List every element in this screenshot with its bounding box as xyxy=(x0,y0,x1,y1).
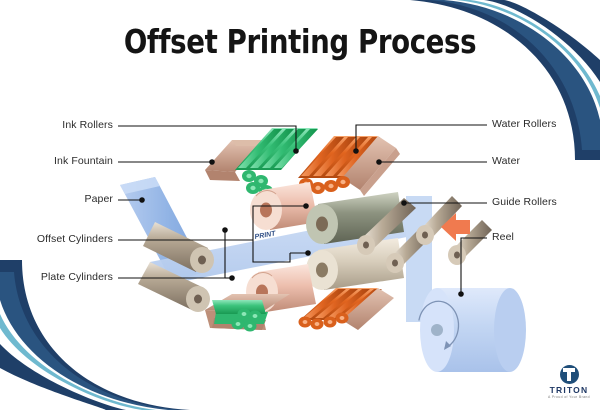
brand-tagline: A Proud of Your Brand xyxy=(546,395,592,399)
label-offset-cylinders: Offset Cylinders xyxy=(8,233,113,245)
label-ink-rollers: Ink Rollers xyxy=(20,119,113,131)
triton-t-icon xyxy=(560,365,579,384)
label-guide-rollers: Guide Rollers xyxy=(492,196,557,208)
label-water: Water xyxy=(492,155,520,167)
label-paper-text: Paper xyxy=(84,193,113,205)
label-water-rollers-text: Water Rollers xyxy=(492,118,557,130)
label-paper: Paper xyxy=(20,193,113,205)
brand-logo: TRITON A Proud of Your Brand xyxy=(546,365,592,403)
label-guide-rollers-text: Guide Rollers xyxy=(492,196,557,208)
label-reel-text: Reel xyxy=(492,231,514,243)
label-water-text: Water xyxy=(492,155,520,167)
label-plate-cylinders-text: Plate Cylinders xyxy=(41,271,113,283)
label-ink-fountain: Ink Fountain xyxy=(20,155,113,167)
label-water-rollers: Water Rollers xyxy=(492,118,557,130)
label-plate-cylinders: Plate Cylinders xyxy=(8,271,113,283)
brand-name: TRITON xyxy=(546,385,592,395)
label-ink-fountain-text: Ink Fountain xyxy=(54,155,113,167)
poster-canvas: Offset Printing Process xyxy=(0,0,600,410)
label-ink-rollers-text: Ink Rollers xyxy=(62,119,113,131)
label-offset-cylinders-text: Offset Cylinders xyxy=(37,233,113,245)
label-reel: Reel xyxy=(492,231,514,243)
